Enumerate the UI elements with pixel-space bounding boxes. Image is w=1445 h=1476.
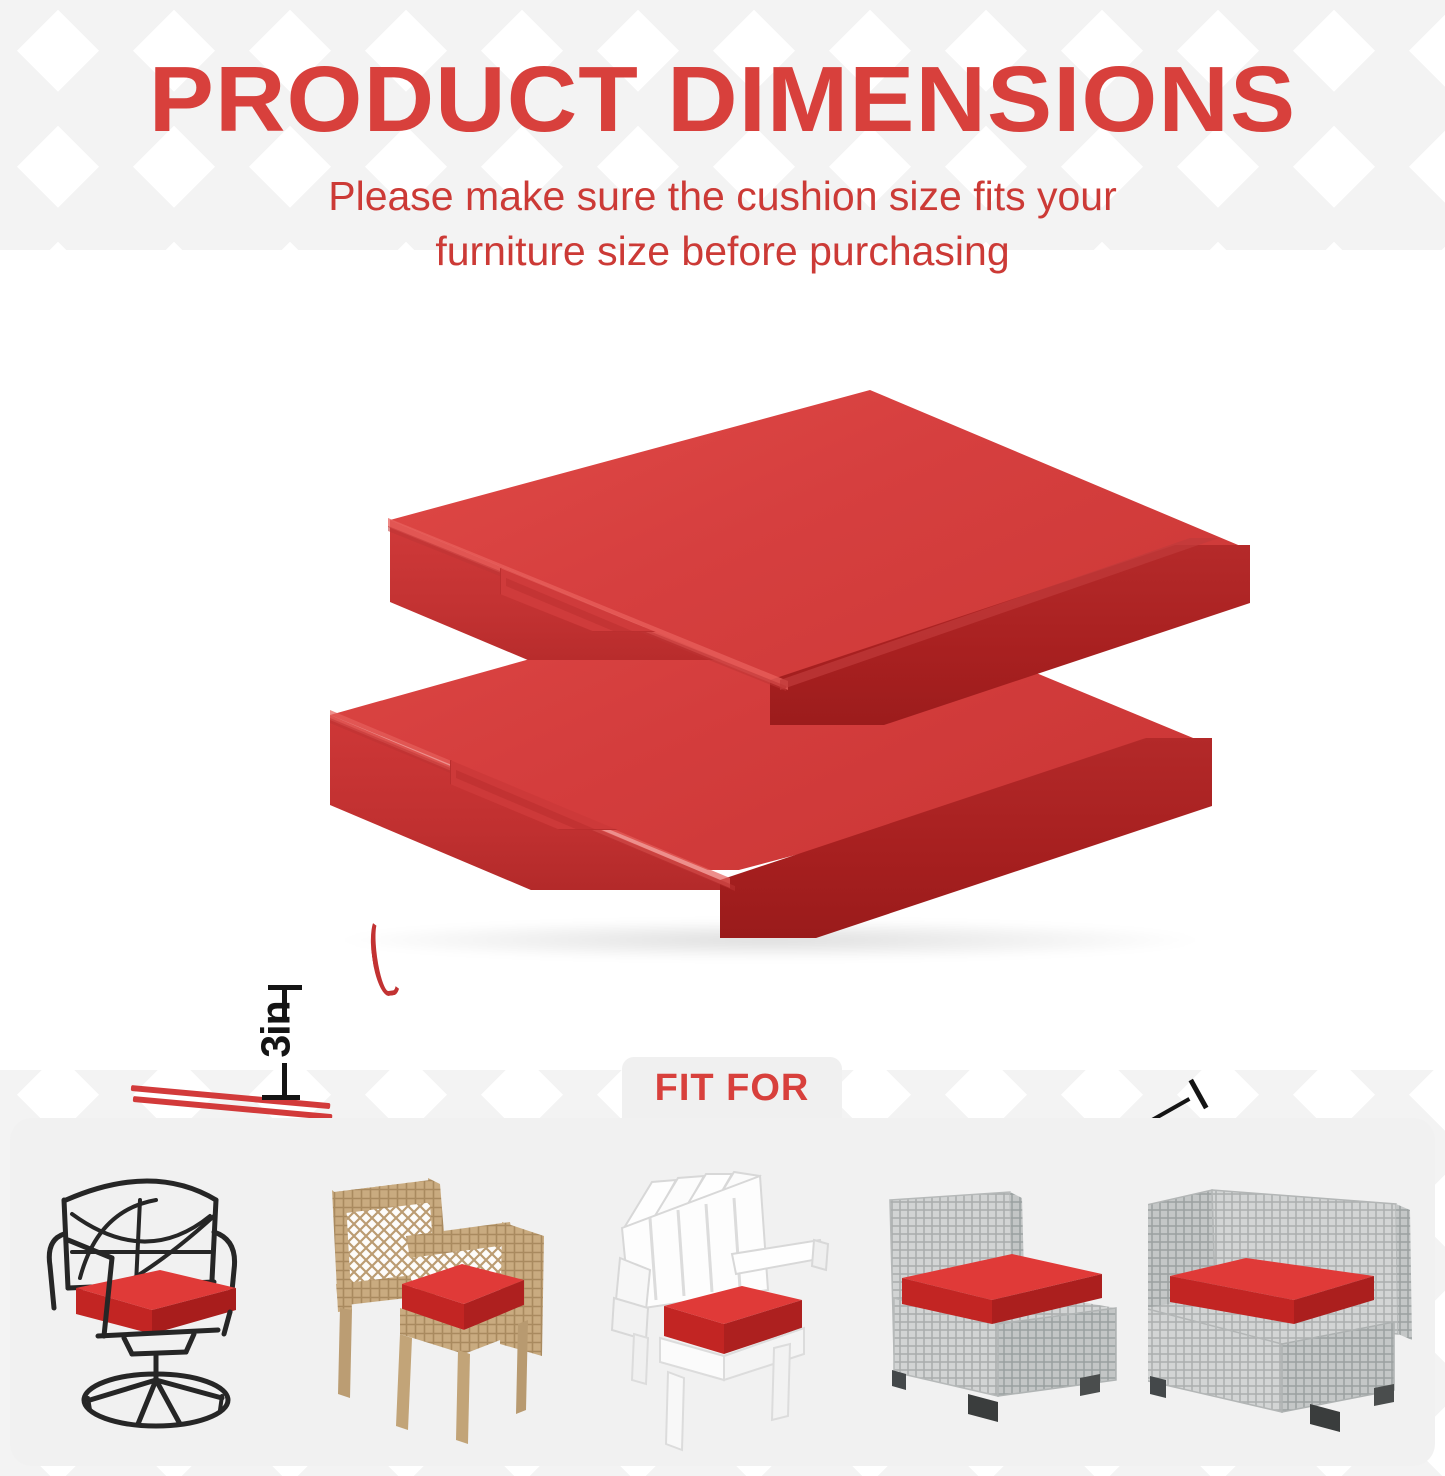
header: PRODUCT DIMENSIONS Please make sure the … [0, 0, 1445, 280]
page-title: PRODUCT DIMENSIONS [0, 0, 1445, 147]
fit-for-item-wicker-armchair [295, 1118, 580, 1466]
gray-wicker-armless-sectional-seat-icon [872, 1158, 1144, 1458]
product-dimension-illustration: 3in 16in 17in [0, 330, 1445, 1030]
fit-for-tab: FIT FOR [622, 1057, 842, 1119]
fit-for-item-swivel-chair [10, 1118, 295, 1466]
fit-for-label: FIT FOR [655, 1067, 810, 1110]
white-adirondack-chair-icon [598, 1158, 848, 1458]
dimension-depth-tick-upper [1189, 1079, 1209, 1109]
dimension-height-line-lower [282, 1063, 287, 1097]
fit-for-panel [10, 1118, 1435, 1466]
fit-for-item-armless-sectional [865, 1118, 1150, 1466]
page-subtitle: Please make sure the cushion size fits y… [0, 169, 1445, 280]
subtitle-line-2: furniture size before purchasing [435, 228, 1009, 274]
wrought-iron-swivel-dining-chair-icon [28, 1148, 278, 1458]
subtitle-line-1: Please make sure the cushion size fits y… [328, 173, 1117, 219]
fit-for-item-corner-sectional [1150, 1118, 1435, 1466]
dimension-height-label: 3in [253, 1001, 300, 1057]
dimension-height-tick-bottom [262, 1095, 300, 1100]
gray-wicker-corner-sectional-seat-icon [1148, 1158, 1438, 1458]
wicker-rattan-dining-armchair-icon [312, 1158, 564, 1458]
fit-for-item-adirondack-chair [580, 1118, 865, 1466]
